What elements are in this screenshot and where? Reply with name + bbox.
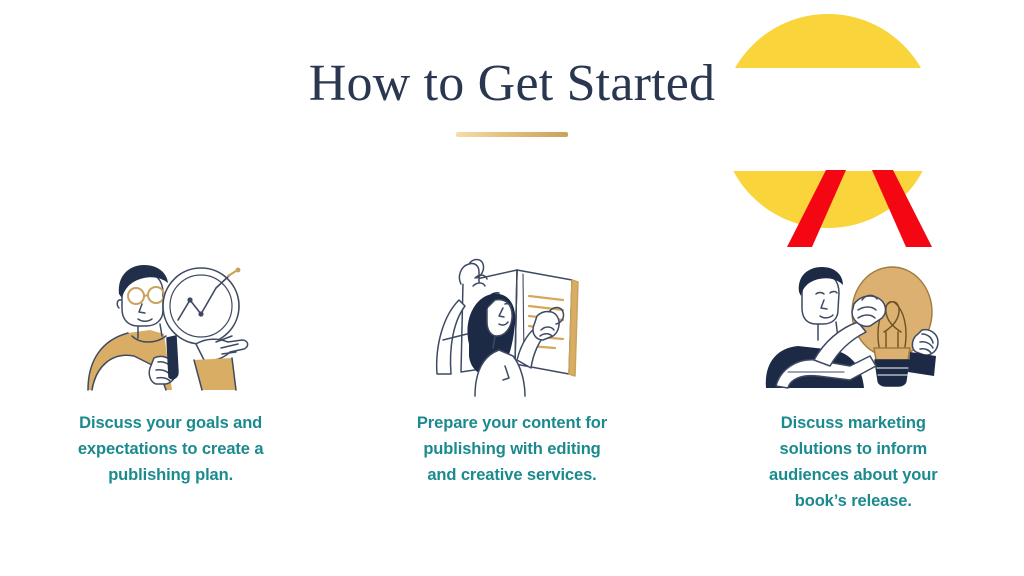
page-title: How to Get Started <box>0 56 1024 112</box>
step-caption-2: Prepare your content for publishing with… <box>394 410 629 488</box>
step-caption-1: Discuss your goals and expectations to c… <box>53 410 288 488</box>
steps-row: Discuss your goals and expectations to c… <box>0 248 1024 514</box>
step-card-1: Discuss your goals and expectations to c… <box>0 248 341 514</box>
header: How to Get Started <box>0 56 1024 137</box>
step-card-3: Discuss marketing solutions to inform au… <box>683 248 1024 514</box>
person-reading-open-book-icon <box>417 248 607 398</box>
gold-divider <box>456 132 568 137</box>
caption-line: solutions to inform <box>736 436 971 462</box>
caption-line: book’s release. <box>736 488 971 514</box>
person-with-magnifying-glass-chart-icon <box>76 248 266 398</box>
caption-line: publishing with editing <box>394 436 629 462</box>
red-chevron-right-stroke <box>872 170 932 247</box>
caption-line: Discuss your goals and <box>53 410 288 436</box>
caption-line: publishing plan. <box>53 462 288 488</box>
caption-line: Prepare your content for <box>394 410 629 436</box>
caption-line: and creative services. <box>394 462 629 488</box>
red-chevron-left-stroke <box>787 170 846 247</box>
slide-canvas: How to Get Started <box>0 0 1024 576</box>
caption-line: audiences about your <box>736 462 971 488</box>
step-caption-3: Discuss marketing solutions to inform au… <box>736 410 971 514</box>
step-card-2: Prepare your content for publishing with… <box>341 248 682 514</box>
caption-line: expectations to create a <box>53 436 288 462</box>
person-holding-lightbulb-icon <box>758 248 948 398</box>
caption-line: Discuss marketing <box>736 410 971 436</box>
